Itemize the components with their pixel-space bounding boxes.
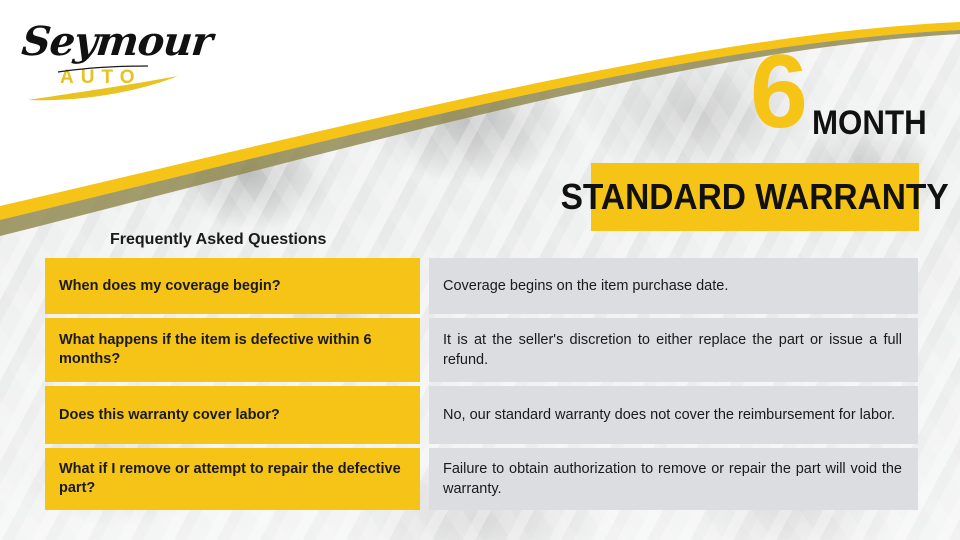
faq-column-gap (420, 258, 429, 314)
faq-column-gap (420, 318, 429, 382)
faq-heading: Frequently Asked Questions (110, 231, 326, 249)
logo-swoosh-icon (14, 14, 204, 106)
faq-question-cell: What if I remove or attempt to repair th… (45, 448, 420, 510)
faq-answer-cell: Failure to obtain authorization to remov… (429, 448, 918, 510)
faq-answer-cell: It is at the seller's discretion to eith… (429, 318, 918, 382)
faq-answer-text: It is at the seller's discretion to eith… (443, 330, 902, 370)
warranty-slide: Seymour AUTO 6 MONTH STANDARD WARRANTY F… (0, 0, 960, 540)
faq-question-cell: What happens if the item is defective wi… (45, 318, 420, 382)
faq-column-gap (420, 386, 429, 444)
faq-row: What happens if the item is defective wi… (45, 318, 918, 382)
faq-row: What if I remove or attempt to repair th… (45, 448, 918, 510)
faq-answer-text: Failure to obtain authorization to remov… (443, 459, 902, 499)
faq-row: When does my coverage begin? Coverage be… (45, 258, 918, 314)
faq-answer-text: No, our standard warranty does not cover… (443, 405, 902, 425)
standard-warranty-banner: STANDARD WARRANTY (591, 163, 919, 231)
warranty-months-number: 6 (750, 40, 806, 144)
faq-question-cell: When does my coverage begin? (45, 258, 420, 314)
faq-answer-cell: No, our standard warranty does not cover… (429, 386, 918, 444)
faq-table: When does my coverage begin? Coverage be… (45, 258, 918, 510)
faq-answer-text: Coverage begins on the item purchase dat… (443, 276, 902, 296)
faq-row: Does this warranty cover labor? No, our … (45, 386, 918, 444)
warranty-months-label: MONTH (812, 106, 927, 140)
standard-warranty-text: STANDARD WARRANTY (561, 179, 949, 215)
faq-question-cell: Does this warranty cover labor? (45, 386, 420, 444)
seymour-auto-logo: Seymour AUTO (14, 14, 204, 106)
faq-answer-cell: Coverage begins on the item purchase dat… (429, 258, 918, 314)
faq-column-gap (420, 448, 429, 510)
